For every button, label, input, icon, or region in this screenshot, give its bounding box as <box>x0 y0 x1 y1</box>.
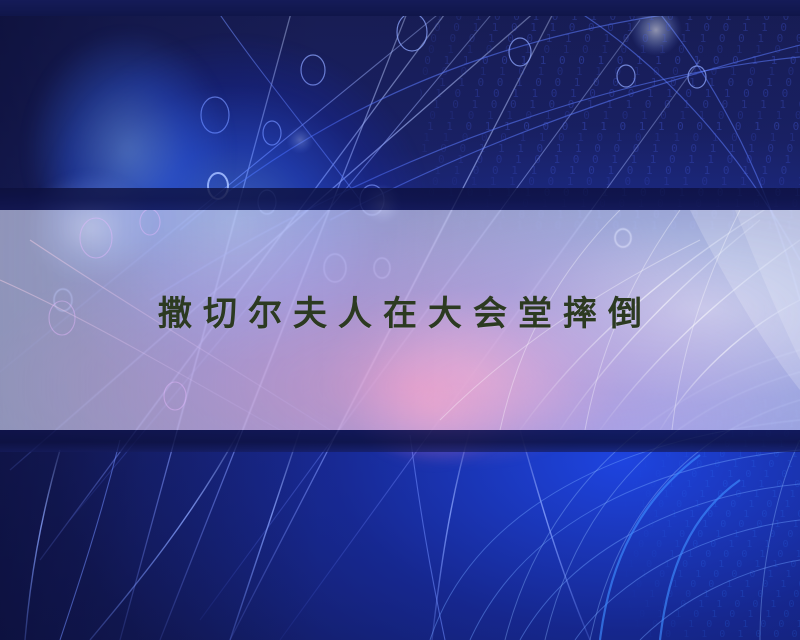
banner-bottom-rule <box>0 430 800 452</box>
banner-top-rule <box>0 188 800 210</box>
binary-row: 0 1 0 1 0 1 1 0 1 0 0 0 1 1 0 1 1 0 0 0 … <box>600 630 800 640</box>
slide-title: 撒切尔夫人在大会堂摔倒 <box>0 292 800 336</box>
slide-canvas: 0 1 0 0 1 1 0 0 0 1 0 1 1 0 0 1 0 0 1 1 … <box>0 0 800 640</box>
bottom-edge-strip <box>0 0 800 16</box>
